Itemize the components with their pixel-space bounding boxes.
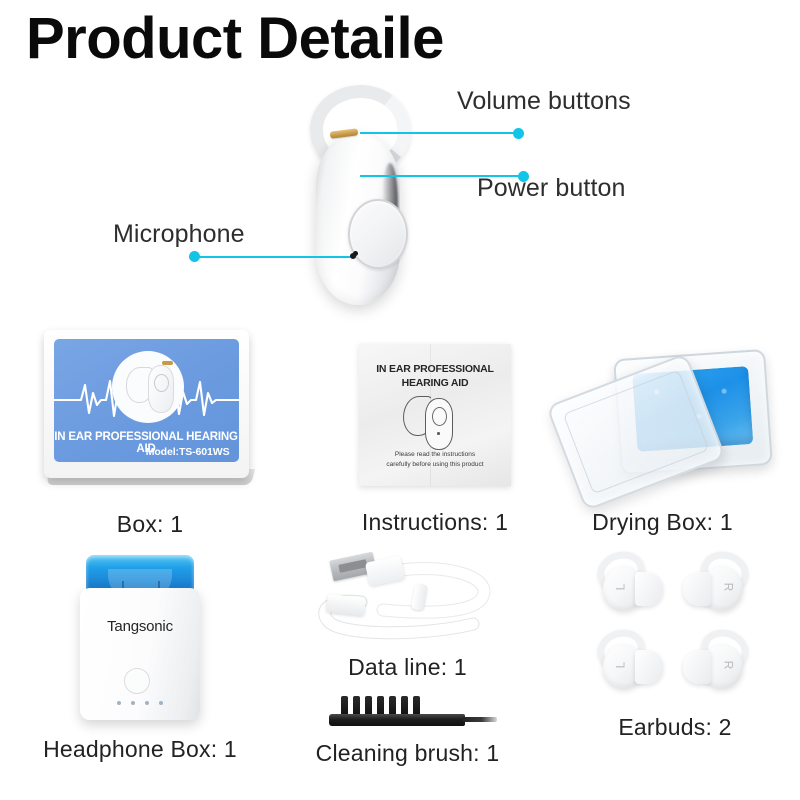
callout-label-volume-buttons: Volume buttons	[457, 87, 631, 116]
leaflet-earpiece-outline	[425, 398, 453, 450]
drying-box-lid-rim	[563, 370, 710, 495]
callout-dot-microphone-target	[350, 253, 356, 259]
grid-item-data-line: Data line: 1	[295, 552, 520, 681]
charging-case-brand: Tangsonic	[80, 618, 200, 635]
box-artwork: IN EAR PROFESSIONAL HEARING AID Model:TS…	[44, 330, 257, 495]
earbud-tip-right-top: R	[679, 552, 759, 622]
bud-silicone-tip	[683, 572, 711, 606]
grid-item-drying-box: Drying Box: 1	[545, 342, 780, 536]
bristle-3	[365, 696, 372, 716]
caption-box: Box: 1	[35, 511, 265, 538]
bud-silicone-tip	[683, 650, 711, 684]
earpiece-illustration	[300, 85, 430, 310]
caption-data-line: Data line: 1	[295, 654, 520, 681]
grid-item-headphone-box: Tangsonic Headphone Box: 1	[20, 555, 260, 763]
leaflet-title: IN EAR PROFESSIONAL HEARING AID	[359, 362, 511, 390]
led-dot-4	[159, 701, 163, 705]
instructions-artwork: IN EAR PROFESSIONAL HEARING AID Please r…	[359, 344, 511, 486]
callout-dot-volume-buttons	[513, 128, 524, 139]
led-dot-3	[145, 701, 149, 705]
callout-line-volume-buttons	[360, 132, 520, 134]
caption-headphone-box: Headphone Box: 1	[20, 736, 260, 763]
caption-earbuds: Earbuds: 2	[570, 714, 780, 741]
accessories-grid: IN EAR PROFESSIONAL HEARING AID Model:TS…	[0, 330, 800, 800]
page-title: Product Detaile	[26, 10, 444, 68]
callout-label-microphone: Microphone	[113, 220, 245, 249]
brush-pick-tip	[463, 717, 497, 722]
earbud-tip-left-bottom: L	[587, 630, 667, 700]
headphone-box-artwork: Tangsonic	[80, 555, 200, 723]
callout-line-power-button	[360, 175, 525, 177]
power-button[interactable]	[348, 199, 408, 269]
box-earpiece-outline	[148, 365, 174, 413]
led-dot-1	[117, 701, 121, 705]
bristle-7	[413, 696, 420, 716]
grid-item-instructions: IN EAR PROFESSIONAL HEARING AID Please r…	[310, 344, 560, 536]
bud-side-marking-left: L	[613, 662, 627, 669]
caption-instructions: Instructions: 1	[310, 509, 560, 536]
bud-side-marking-left: L	[613, 584, 627, 591]
earbud-tip-right-bottom: R	[679, 630, 759, 700]
bristle-6	[401, 696, 408, 716]
bud-silicone-tip	[635, 572, 663, 606]
grid-item-box: IN EAR PROFESSIONAL HEARING AID Model:TS…	[35, 330, 265, 538]
micro-usb-connector	[326, 594, 366, 616]
bud-silicone-tip	[635, 650, 663, 684]
caption-cleaning-brush: Cleaning brush: 1	[295, 740, 520, 767]
bud-side-marking-right: R	[722, 583, 736, 592]
callout-dot-microphone	[189, 251, 200, 262]
leaflet-note-line2: carefully before using this product	[386, 461, 483, 468]
cleaning-brush-artwork	[305, 690, 510, 738]
hero-product-diagram: Volume buttons Power button Microphone	[0, 80, 800, 325]
box-product-photo	[112, 351, 184, 423]
leaflet-earpiece-mic	[437, 432, 440, 435]
leaflet-note-line1: Please read the instructions	[395, 451, 475, 458]
earbud-tip-left-top: L	[587, 552, 667, 622]
brush-handle	[329, 714, 465, 726]
brush-bristles	[341, 696, 425, 716]
leaflet-title-line2: HEARING AID	[402, 377, 469, 389]
earbuds-artwork: L R L R	[587, 552, 763, 704]
bud-side-marking-right: R	[722, 661, 736, 670]
grid-item-earbuds: L R L R Earbuds: 2	[570, 552, 780, 741]
led-dot-2	[131, 701, 135, 705]
box-body: IN EAR PROFESSIONAL HEARING AID Model:TS…	[44, 330, 249, 478]
leaflet-earpiece-button	[432, 407, 447, 426]
charging-case-led-indicators	[80, 701, 200, 705]
bristle-1	[341, 696, 348, 716]
earpiece-body	[316, 133, 400, 305]
bristle-4	[377, 696, 384, 716]
charging-case-body: Tangsonic	[80, 588, 200, 720]
box-earpiece-button	[154, 374, 169, 392]
leaflet-note: Please read the instructions carefully b…	[359, 450, 511, 470]
data-line-artwork	[305, 552, 510, 650]
grid-item-cleaning-brush: Cleaning brush: 1	[295, 690, 520, 767]
callout-label-power-button: Power button	[477, 174, 626, 203]
caption-drying-box: Drying Box: 1	[545, 509, 780, 536]
charging-case-button[interactable]	[124, 668, 150, 694]
leaflet-title-line1: IN EAR PROFESSIONAL	[376, 363, 494, 375]
bristle-5	[389, 696, 396, 716]
callout-dot-power-button	[518, 171, 529, 182]
box-model-number: Model:TS-601WS	[146, 446, 230, 458]
drying-box-artwork	[555, 342, 770, 487]
callout-line-microphone	[194, 256, 356, 258]
box-printed-face: IN EAR PROFESSIONAL HEARING AID Model:TS…	[54, 339, 239, 462]
bristle-2	[353, 696, 360, 716]
box-earpiece-contacts	[162, 361, 173, 365]
